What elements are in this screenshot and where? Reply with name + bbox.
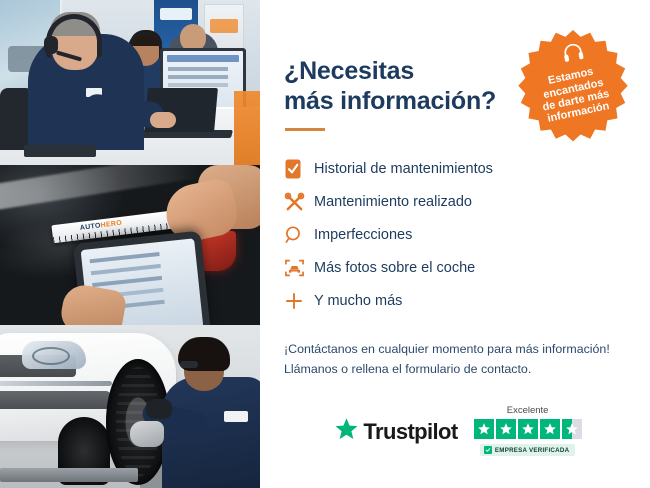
page-title-line-1: ¿Necesitas — [284, 57, 414, 85]
feature-item-fotos: Más fotos sobre el coche — [284, 252, 626, 284]
mechanic-shoulder-badge — [224, 411, 248, 422]
clipboard-check-icon — [284, 157, 314, 181]
safety-glasses — [180, 361, 198, 368]
contact-paragraph-line-1: ¡Contáctanos en cualquier momento para m… — [284, 342, 610, 356]
mechanic-glove-upper — [146, 399, 172, 419]
trustpilot-rating: Trustpilot Excelente — [284, 405, 632, 456]
feature-item-mas: Y mucho más — [284, 285, 626, 317]
car-lift-ramp — [0, 468, 138, 482]
star-icon — [540, 419, 560, 439]
call-center-agents-photo — [0, 0, 260, 165]
promo-card: AUTOHERO — [0, 0, 650, 488]
keyboard — [24, 145, 96, 157]
mechanic-glove — [130, 421, 164, 447]
feature-list: Historial de mantenimientos Mantenimient… — [284, 153, 626, 317]
star-icon — [518, 419, 538, 439]
star-icon — [474, 419, 494, 439]
verified-business-label: EMPRESA VERIFICADA — [495, 447, 569, 454]
content-panel: ¿Necesitas más información? Historial de… — [260, 0, 650, 488]
magnifier-icon — [284, 223, 314, 247]
car-photo-icon — [284, 256, 314, 280]
half-star-icon — [562, 419, 582, 439]
foreground-agent-hand — [150, 112, 176, 128]
mechanic-wheel-photo — [0, 325, 260, 488]
verified-business-badge: EMPRESA VERIFICADA — [480, 444, 575, 456]
headlight — [22, 341, 86, 369]
check-square-icon — [484, 446, 492, 454]
contact-paragraph-line-2: Llámanos o rellena el formulario de cont… — [284, 362, 531, 376]
trustpilot-stars — [474, 419, 582, 439]
mechanic-body — [162, 377, 260, 488]
feature-item-historial: Historial de mantenimientos — [284, 153, 626, 185]
plus-icon — [284, 289, 314, 313]
contact-paragraph: ¡Contáctanos en cualquier momento para m… — [284, 339, 626, 379]
trustpilot-logo[interactable]: Trustpilot — [334, 417, 457, 456]
trustpilot-wordmark: Trustpilot — [363, 419, 457, 445]
feature-label: Imperfecciones — [314, 228, 412, 243]
feature-label: Historial de mantenimientos — [314, 162, 493, 177]
page-title-line-2: más información? — [284, 87, 496, 115]
photo-column: AUTOHERO — [0, 0, 260, 488]
chrome-trim — [0, 381, 112, 386]
star-icon — [496, 419, 516, 439]
office-chair — [0, 88, 30, 150]
tools-icon — [284, 190, 314, 214]
car-inspection-ruler-photo: AUTOHERO — [0, 165, 260, 325]
feature-label: Más fotos sobre el coche — [314, 261, 475, 276]
title-underline-rule — [285, 128, 325, 131]
lower-grille — [0, 391, 110, 409]
support-badge-text: Estamos encantados de darte más informac… — [503, 17, 643, 157]
trustpilot-rating-label: Excelente — [507, 405, 549, 416]
feature-item-imperfecciones: Imperfecciones — [284, 219, 626, 251]
support-badge: Estamos encantados de darte más informac… — [514, 28, 632, 146]
trustpilot-star-icon — [334, 417, 359, 446]
trustpilot-score-block: Excelente — [474, 405, 582, 456]
feature-item-mantenimiento: Mantenimiento realizado — [284, 186, 626, 218]
feature-label: Y mucho más — [314, 294, 402, 309]
feature-label: Mantenimiento realizado — [314, 195, 472, 210]
orange-divider-strip — [234, 91, 260, 165]
page-title: ¿Necesitas más información? — [284, 56, 514, 116]
